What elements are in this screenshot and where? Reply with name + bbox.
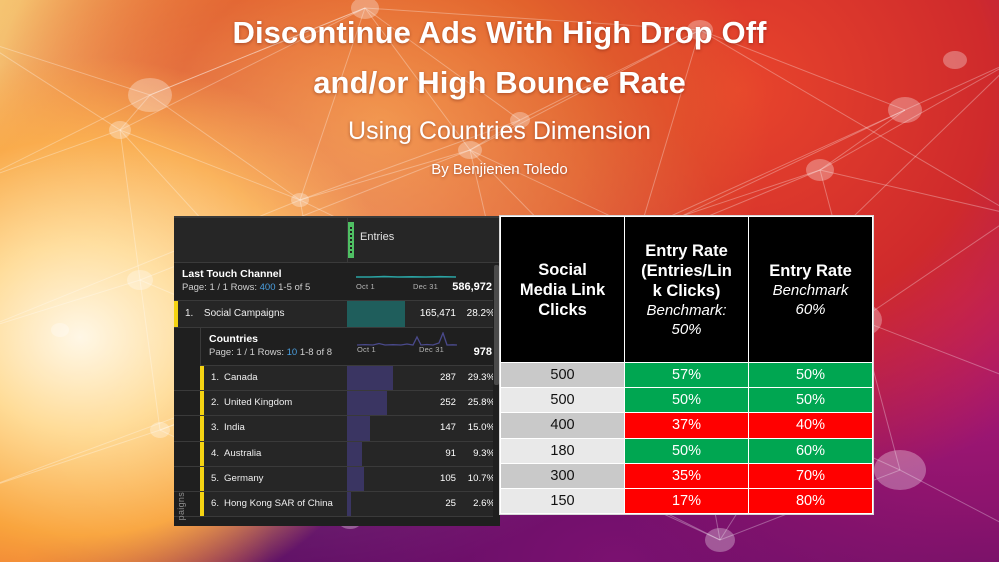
cell-social-media-link-clicks: 150 [501,488,625,513]
row-value-bar [347,442,362,466]
column-header-benchmark: Benchmark:50% [629,301,744,339]
table-row: 15017%80% [501,488,873,513]
section-countries: Countries Page: 1 / 1 Rows: 10 1-8 of 8 … [174,328,500,366]
table-body: 50057%50%50050%50%40037%40%18050%60%3003… [501,363,873,514]
sparkline-end-label: Dec 31 [419,345,444,354]
pagination-range: 1-8 of 8 [300,347,332,358]
sparkline-end-label: Dec 31 [413,282,438,291]
section-total-value: 978 [474,346,492,358]
row-accent-bar [200,442,204,466]
row-rank: 1. [185,308,193,319]
row-name: Social Campaigns [204,308,285,319]
indent-spacer [174,391,200,415]
table-row[interactable]: 1.Canada28729.3% [174,366,500,391]
row-entries: 105 [416,473,456,484]
metric-column-indicator-icon[interactable] [348,222,354,258]
row-label: 5.Germany [211,473,263,484]
row-value-bar [347,467,364,491]
indent-spacer [174,442,200,466]
section-sparkline: Oct 1 Dec 31 [356,269,456,291]
cell-social-media-link-clicks: 500 [501,363,625,388]
table-row: 40037%40% [501,413,873,438]
column-header-title: SocialMedia LinkClicks [505,260,620,320]
scrollbar-thumb[interactable] [494,265,499,385]
cell-entry-rate: 50% [625,388,749,413]
row-percent: 10.7% [459,473,495,484]
pagination-rows-value[interactable]: 400 [260,282,276,293]
indent-spacer [174,328,200,366]
row-rank: 5. [211,473,219,484]
section-total-value: 586,972 [452,281,492,293]
cell-entry-rate: 35% [625,463,749,488]
row-name: Hong Kong SAR of China [224,498,333,509]
cell-entry-rate-benchmark: 50% [749,363,873,388]
row-value-bar [347,492,351,516]
row-label: 2.United Kingdom [211,397,292,408]
table-row[interactable]: 6.Hong Kong SAR of China252.6% [174,492,500,517]
row-rank: 4. [211,448,219,459]
row-name: Canada [224,372,258,383]
row-entries: 91 [416,448,456,459]
sparkline-start-label: Oct 1 [357,345,376,354]
row-label: 3.India [211,422,245,433]
cell-entry-rate-benchmark: 80% [749,488,873,513]
column-header-entry-rate: Entry Rate(Entries/Link Clicks)Benchmark… [625,217,749,363]
panel-scrollbar[interactable] [493,263,500,526]
row-accent-bar [200,366,204,390]
cell-entry-rate: 17% [625,488,749,513]
cell-entry-rate: 57% [625,363,749,388]
cell-social-media-link-clicks: 180 [501,438,625,463]
indent-spacer [174,416,200,440]
row-value-bar [347,301,405,327]
column-header-social-media-link-clicks: SocialMedia LinkClicks [501,217,625,363]
row-accent-bar [200,492,204,516]
panel-column-header: Entries [174,218,500,263]
vertical-breadcrumb-label: paigns [176,492,188,520]
row-accent-bar [200,391,204,415]
cell-entry-rate-benchmark: 40% [749,413,873,438]
column-header-title: Entry Rate [753,261,868,281]
row-percent: 29.3% [459,372,495,383]
row-entries: 252 [416,397,456,408]
cell-entry-rate-benchmark: 60% [749,438,873,463]
cell-entry-rate-benchmark: 70% [749,463,873,488]
row-entries: 165,471 [420,308,456,319]
metric-column-label: Entries [360,231,394,243]
row-name: India [224,422,245,433]
table-row[interactable]: 5.Germany10510.7% [174,467,500,492]
row-label: 1.Canada [211,372,258,383]
section-last-touch-channel: Last Touch Channel Page: 1 / 1 Rows: 400… [174,263,500,301]
column-header-benchmark: Benchmark60% [753,281,868,319]
row-rank: 1. [211,372,219,383]
sparkline-start-label: Oct 1 [356,282,375,291]
author-byline: By Benjienen Toledo [0,155,999,185]
row-name: Germany [224,473,263,484]
table-row[interactable]: 2.United Kingdom25225.8% [174,391,500,416]
page-title-line1: Discontinue Ads With High Drop Off [0,8,999,58]
section-sparkline: Oct 1 Dec 31 [357,332,457,356]
row-percent: 2.6% [459,498,495,509]
row-accent-bar [200,467,204,491]
row-percent: 9.3% [459,448,495,459]
row-accent-bar [200,416,204,440]
row-label: 4.Australia [211,448,261,459]
row-accent-bar [174,301,178,327]
benchmark-table: SocialMedia LinkClicksEntry Rate(Entries… [500,216,873,514]
table-row-social-campaigns[interactable]: 1. Social Campaigns 165,471 28.2% [174,301,500,328]
cell-entry-rate-benchmark: 50% [749,388,873,413]
table-header-row: SocialMedia LinkClicksEntry Rate(Entries… [501,217,873,363]
row-rank: 6. [211,498,219,509]
page-subtitle: Using Countries Dimension [0,108,999,155]
row-percent: 28.2% [467,308,495,319]
cell-social-media-link-clicks: 400 [501,413,625,438]
country-row-list: 1.Canada28729.3%2.United Kingdom25225.8%… [174,366,500,517]
pagination-prefix: Page: 1 / 1 Rows: [209,347,284,358]
row-name: United Kingdom [224,397,292,408]
table-row: 18050%60% [501,438,873,463]
column-header-entry-rate-benchmark: Entry RateBenchmark60% [749,217,873,363]
row-value-bar [347,366,393,390]
row-entries: 25 [416,498,456,509]
row-name: Australia [224,448,261,459]
table-row: 50050%50% [501,388,873,413]
indent-spacer [174,467,200,491]
page-title-line2: and/or High Bounce Rate [0,58,999,108]
row-entries: 287 [416,372,456,383]
table-row: 30035%70% [501,463,873,488]
row-value-bar [347,416,370,440]
cell-entry-rate: 37% [625,413,749,438]
pagination-rows-value[interactable]: 10 [287,347,298,358]
row-label: 6.Hong Kong SAR of China [211,498,333,509]
row-percent: 25.8% [459,397,495,408]
cell-social-media-link-clicks: 500 [501,388,625,413]
analytics-panel[interactable]: Entries Last Touch Channel Page: 1 / 1 R… [174,216,500,526]
column-header-title: Entry Rate(Entries/Link Clicks) [629,241,744,301]
table-row: 50057%50% [501,363,873,388]
title-block: Discontinue Ads With High Drop Off and/o… [0,8,999,185]
table-row[interactable]: 3.India14715.0% [174,416,500,441]
indent-spacer [174,366,200,390]
row-rank: 2. [211,397,219,408]
row-entries: 147 [416,422,456,433]
row-value-bar [347,391,387,415]
pagination-prefix: Page: 1 / 1 Rows: [182,282,257,293]
table-row[interactable]: 4.Australia919.3% [174,442,500,467]
cell-social-media-link-clicks: 300 [501,463,625,488]
row-percent: 15.0% [459,422,495,433]
pagination-range: 1-5 of 5 [278,282,310,293]
row-label: 1. Social Campaigns [185,308,285,319]
cell-entry-rate: 50% [625,438,749,463]
row-rank: 3. [211,422,219,433]
